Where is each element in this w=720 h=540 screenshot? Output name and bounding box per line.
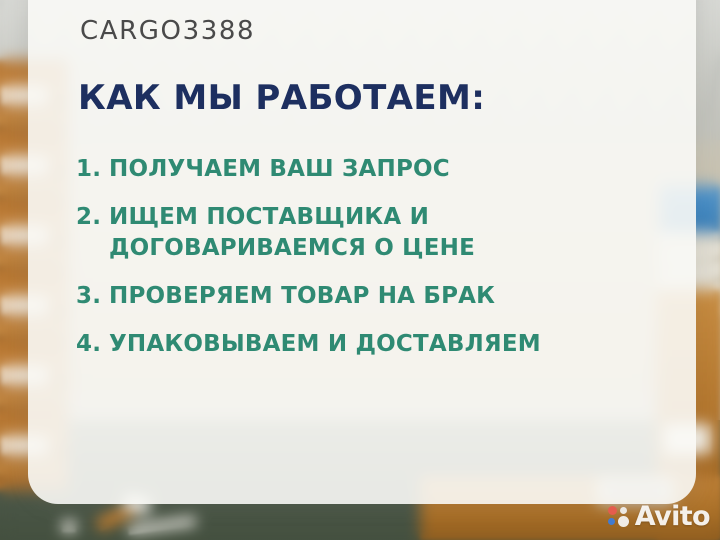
list-item: 4. УПАКОВЫВАЕМ И ДОСТАВЛЯЕМ [76,329,676,359]
floor-debris-fragment [62,521,76,532]
page-title: КАК МЫ РАБОТАЕМ: [78,78,485,118]
steps-list: 1. ПОЛУЧАЕМ ВАШ ЗАПРОС 2. ИЩЕМ ПОСТАВЩИК… [76,154,676,378]
step-number: 2. [76,202,109,232]
step-text: ПРОВЕРЯЕМ ТОВАР НА БРАК [109,281,676,311]
step-number: 3. [76,281,109,311]
step-text: ПОЛУЧАЕМ ВАШ ЗАПРОС [109,154,676,184]
avito-watermark: Avito [608,501,710,532]
avito-wordmark: Avito [635,501,710,532]
content-panel-inner: CARGO3388 КАК МЫ РАБОТАЕМ: 1. ПОЛУЧАЕМ В… [28,0,696,504]
promo-card-canvas: CARGO3388 КАК МЫ РАБОТАЕМ: 1. ПОЛУЧАЕМ В… [0,0,720,540]
list-item: 2. ИЩЕМ ПОСТАВЩИКА И ДОГОВАРИВАЕМСЯ О ЦЕ… [76,202,676,263]
avito-logo-icon [608,506,630,528]
step-number: 1. [76,154,109,184]
step-text: УПАКОВЫВАЕМ И ДОСТАВЛЯЕМ [109,329,676,359]
step-text: ИЩЕМ ПОСТАВЩИКА И ДОГОВАРИВАЕМСЯ О ЦЕНЕ [109,202,676,263]
brand-logo-text: CARGO3388 [80,16,255,46]
list-item: 1. ПОЛУЧАЕМ ВАШ ЗАПРОС [76,154,676,184]
list-item: 3. ПРОВЕРЯЕМ ТОВАР НА БРАК [76,281,676,311]
step-number: 4. [76,329,109,359]
content-panel: CARGO3388 КАК МЫ РАБОТАЕМ: 1. ПОЛУЧАЕМ В… [28,0,696,504]
